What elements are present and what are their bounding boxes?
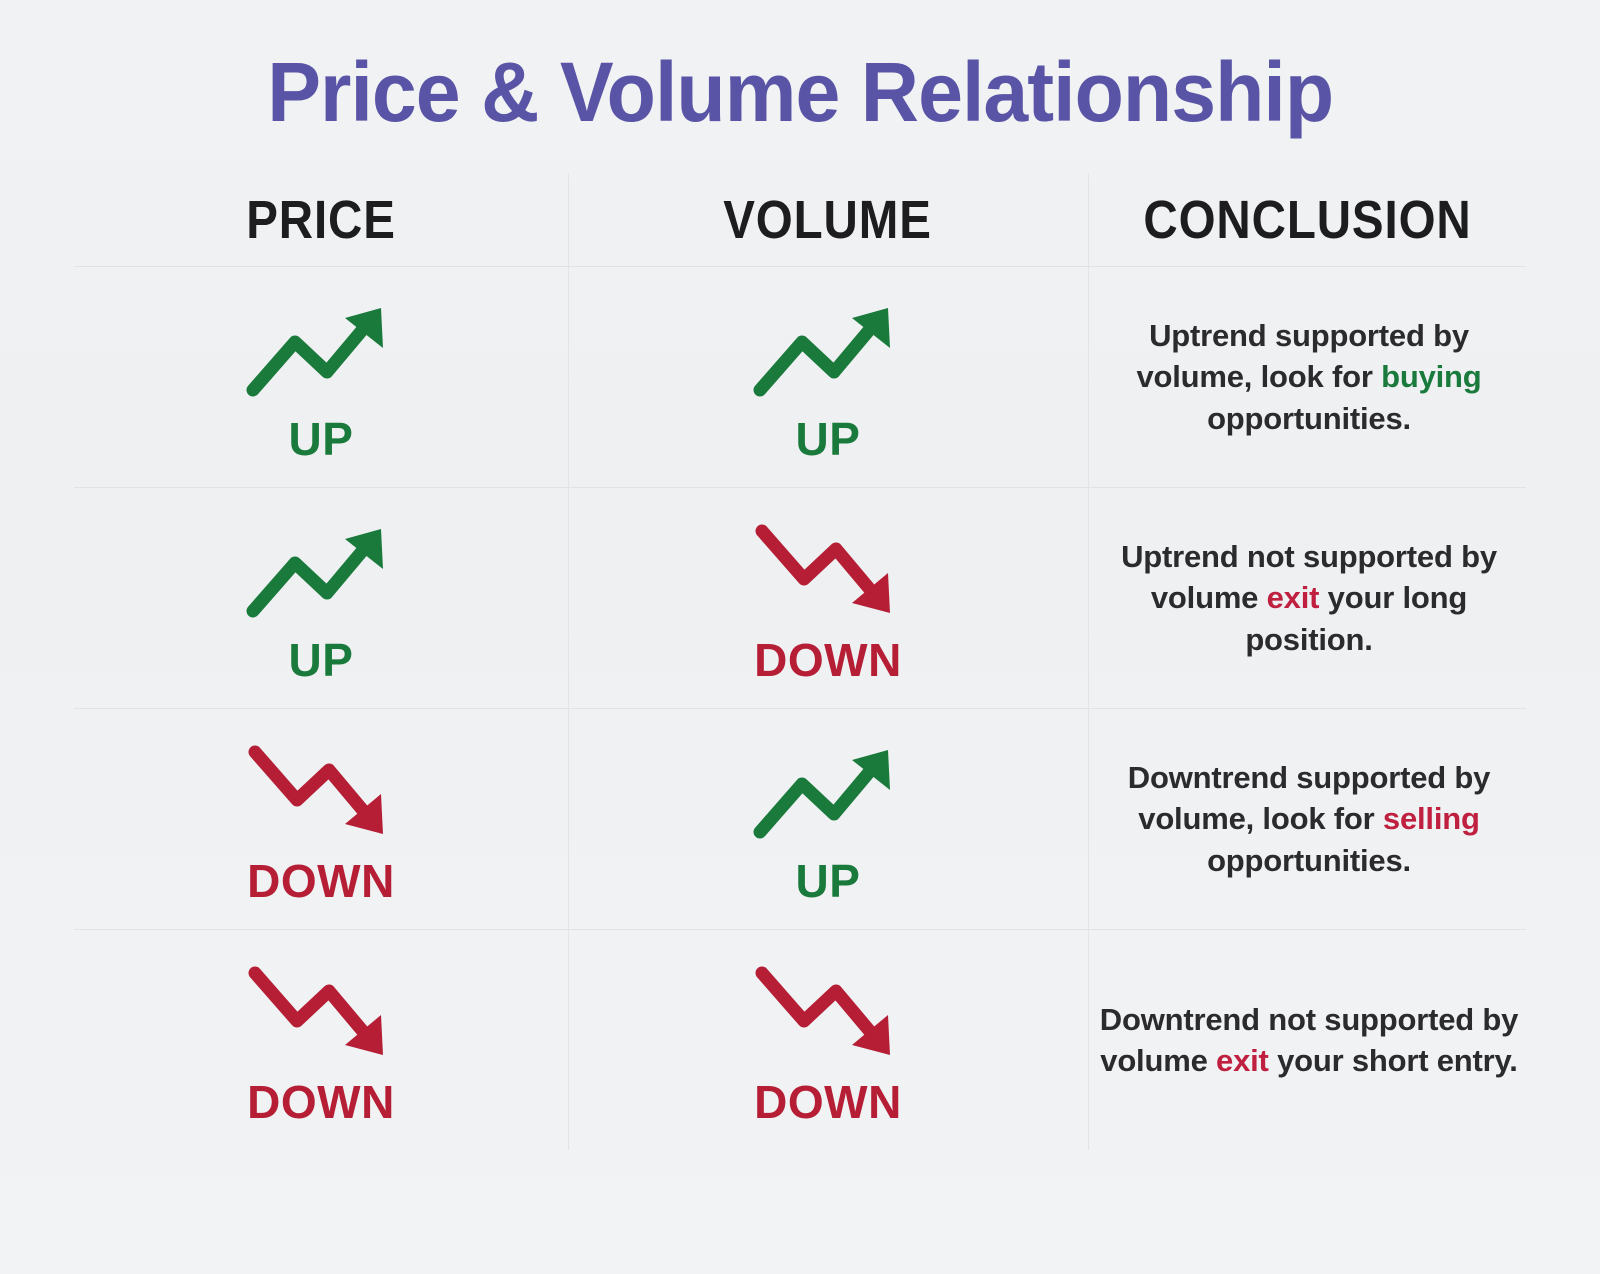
conclusion-text: Downtrend supported by volume, look for … [1098,757,1520,882]
conclusion-text: Uptrend not supported by volume exit you… [1098,536,1520,661]
signal-volume-3: UP [568,709,1088,929]
signal-price-3: DOWN [74,709,568,929]
volume-direction-label: DOWN [754,1079,902,1125]
row-2-price-cell: UP [74,488,568,708]
column-header-price: PRICE [246,189,396,251]
column-header-conclusion: CONCLUSION [1143,189,1471,251]
row-1-price-cell: UP [74,267,568,487]
keyword-buy: buying [1381,359,1481,394]
price-direction-label: DOWN [247,1079,395,1125]
conclusion-text-segment: opportunities. [1207,843,1411,878]
table-row: DOWN UP Downtrend supported by volume, l… [74,709,1526,929]
table-row: UP DOWN Uptrend not supported by volume … [74,488,1526,708]
trend-up-arrow-icon [245,296,397,400]
row-3-price-cell: DOWN [74,709,568,929]
conclusion-container-1: Uptrend supported by volume, look for bu… [1088,267,1526,487]
volume-direction-label: UP [796,858,861,904]
conclusion-text: Downtrend not supported by volume exit y… [1098,999,1520,1082]
row-2-volume-cell: DOWN [568,488,1088,708]
keyword-sell: selling [1383,801,1480,836]
table-header-row: PRICE VOLUME CONCLUSION [74,174,1526,266]
row-3-conclusion-cell: Downtrend supported by volume, look for … [1088,709,1526,929]
header-cell-conclusion: CONCLUSION [1088,174,1526,266]
conclusion-text-segment: your short entry. [1269,1043,1518,1078]
signal-price-4: DOWN [74,930,568,1150]
trend-up-arrow-icon [245,517,397,621]
trend-down-arrow-icon [245,959,397,1063]
trend-down-arrow-icon [752,959,904,1063]
signal-volume-4: DOWN [568,930,1088,1150]
row-3-volume-cell: UP [568,709,1088,929]
keyword-exit: exit [1216,1043,1269,1078]
volume-direction-label: DOWN [754,637,902,683]
volume-direction-label: UP [796,416,861,462]
conclusion-text-segment: opportunities. [1207,401,1411,436]
page-title: Price & Volume Relationship [267,48,1333,136]
signal-volume-1: UP [568,267,1088,487]
price-direction-label: UP [289,637,354,683]
price-direction-label: UP [289,416,354,462]
trend-down-arrow-icon [245,738,397,842]
conclusion-container-3: Downtrend supported by volume, look for … [1088,709,1526,929]
signal-volume-2: DOWN [568,488,1088,708]
infographic-page: Price & Volume Relationship PRICE VOLUME… [0,0,1600,1274]
signal-price-1: UP [74,267,568,487]
trend-down-arrow-icon [752,517,904,621]
table-row: DOWN DOWN Downtrend not supported by vol… [74,930,1526,1150]
header-cell-volume: VOLUME [568,174,1088,266]
row-1-volume-cell: UP [568,267,1088,487]
row-4-volume-cell: DOWN [568,930,1088,1150]
row-2-conclusion-cell: Uptrend not supported by volume exit you… [1088,488,1526,708]
price-direction-label: DOWN [247,858,395,904]
column-header-volume: VOLUME [724,189,933,251]
header-cell-price: PRICE [74,174,568,266]
keyword-exit: exit [1267,580,1320,615]
row-4-price-cell: DOWN [74,930,568,1150]
price-volume-table: PRICE VOLUME CONCLUSION UP [74,174,1526,1150]
row-4-conclusion-cell: Downtrend not supported by volume exit y… [1088,930,1526,1150]
conclusion-text: Uptrend supported by volume, look for bu… [1098,315,1520,440]
conclusion-container-4: Downtrend not supported by volume exit y… [1088,930,1526,1150]
row-1-conclusion-cell: Uptrend supported by volume, look for bu… [1088,267,1526,487]
trend-up-arrow-icon [752,296,904,400]
conclusion-container-2: Uptrend not supported by volume exit you… [1088,488,1526,708]
table-row: UP UP Uptrend supported by volume, look … [74,267,1526,487]
signal-price-2: UP [74,488,568,708]
title-container: Price & Volume Relationship [0,0,1600,136]
trend-up-arrow-icon [752,738,904,842]
